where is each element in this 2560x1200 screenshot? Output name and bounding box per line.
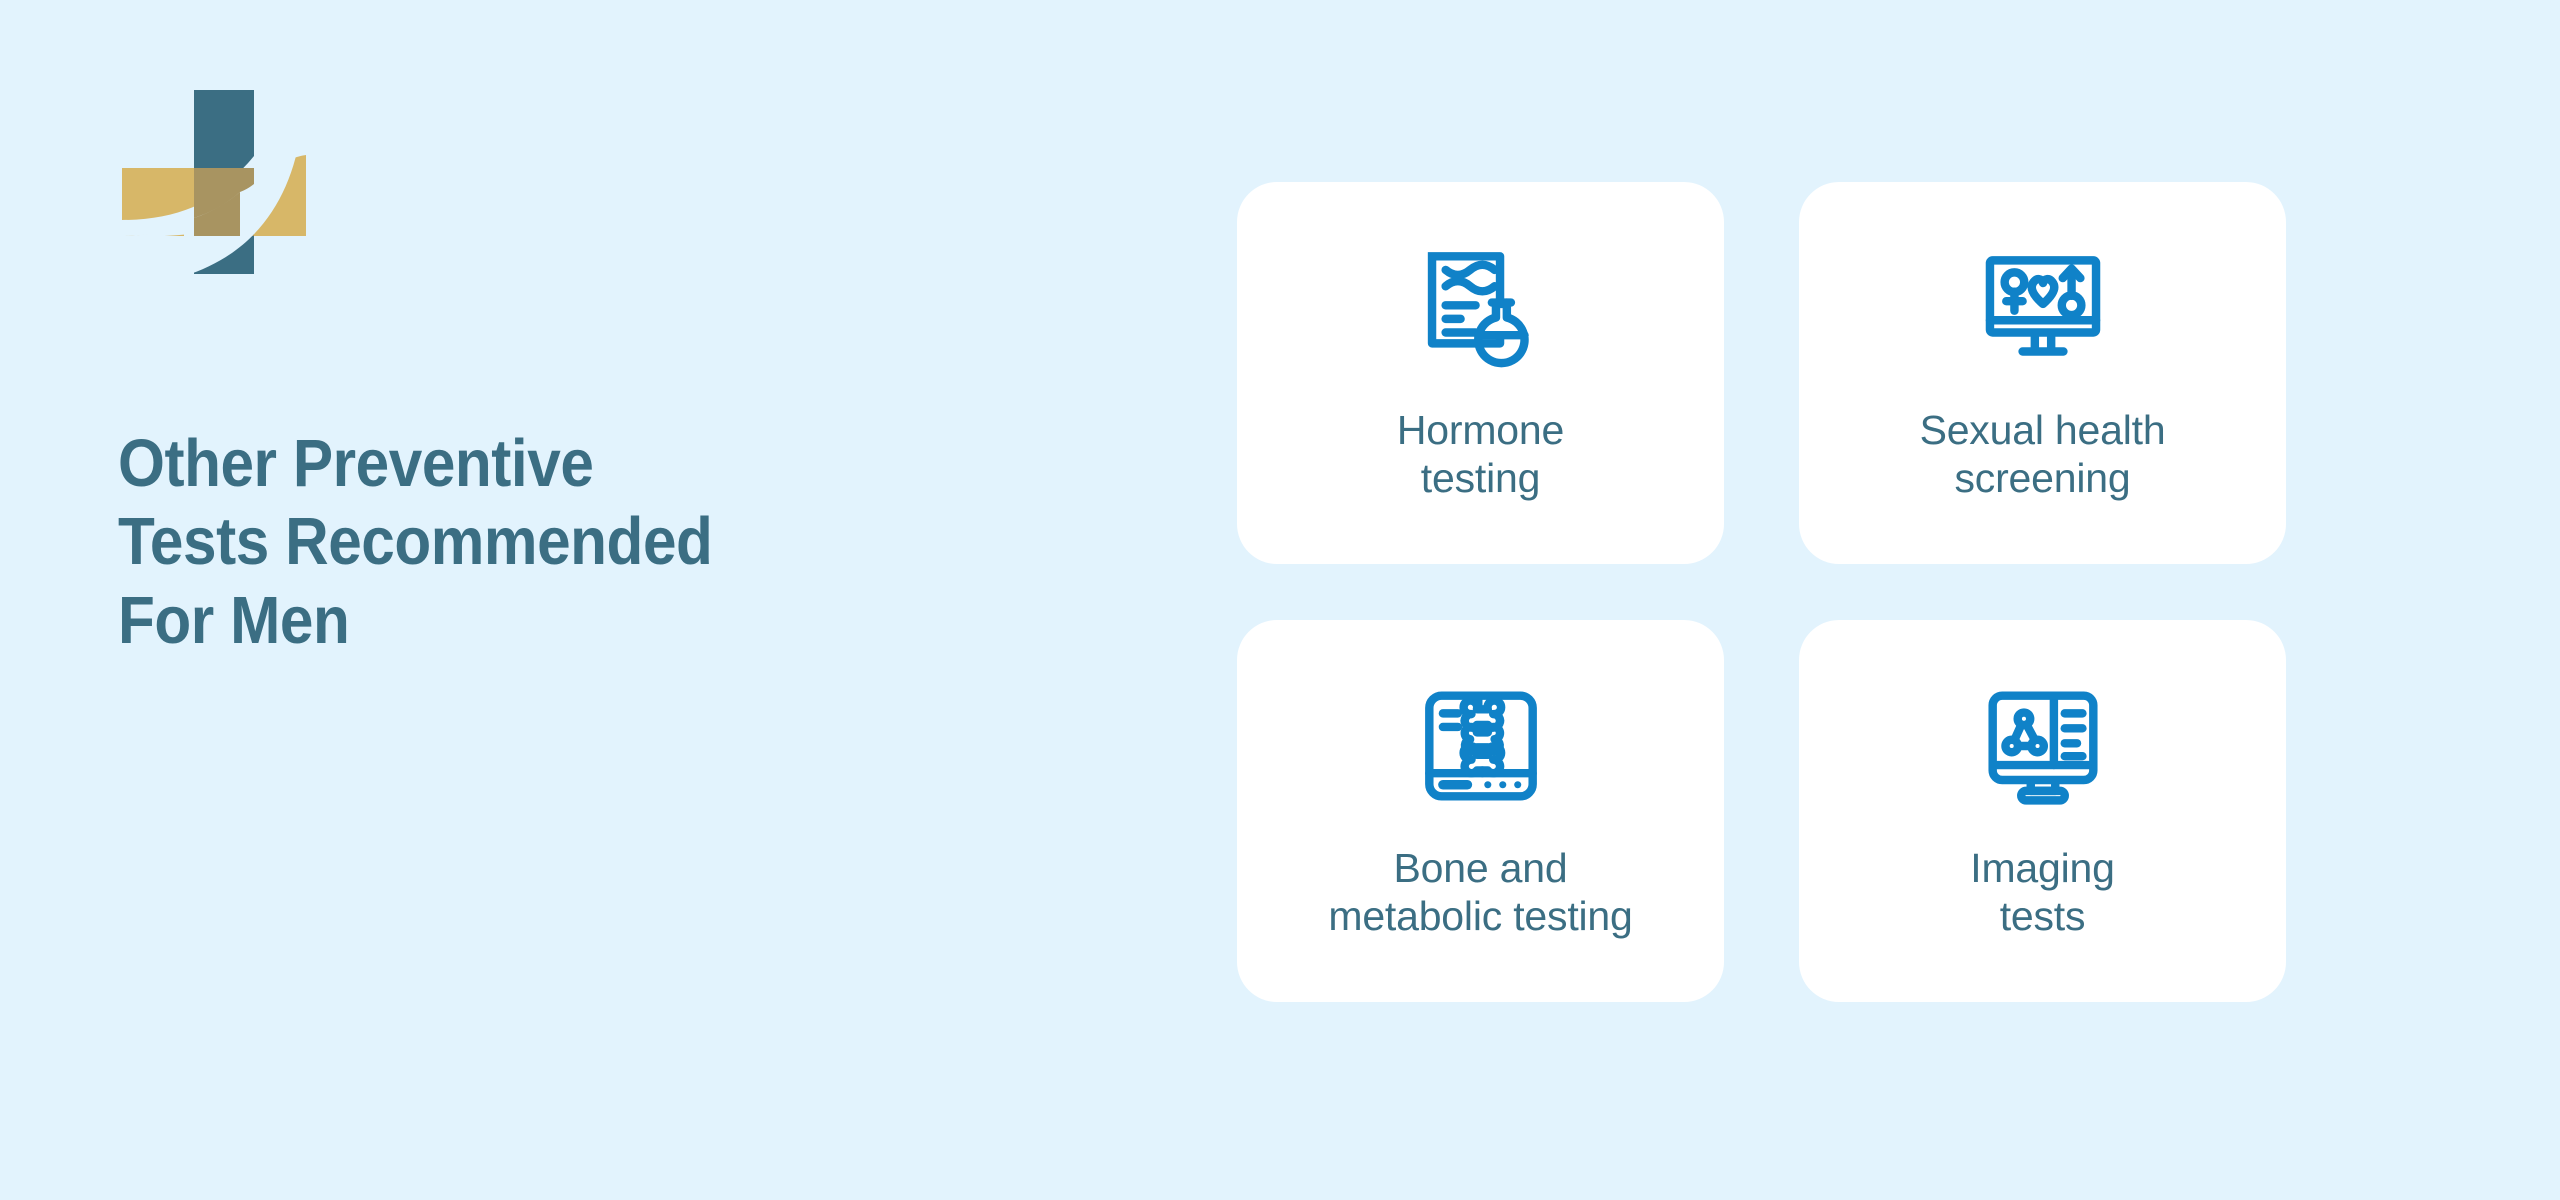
card-label: Imaging tests (1970, 844, 2114, 941)
page-title-line-1: Other Preventive (118, 425, 910, 503)
card-sexual-health-screening[interactable]: Sexual health screening (1799, 182, 2286, 564)
bone-scanner-icon (1413, 678, 1549, 814)
page-title-line-2: Tests Recommended (118, 503, 910, 581)
infographic-canvas: Other Preventive Tests Recommended For M… (0, 0, 2560, 1200)
monitor-gender-symbols-icon (1975, 240, 2111, 376)
card-imaging-tests[interactable]: Imaging tests (1799, 620, 2286, 1002)
left-content-panel: Other Preventive Tests Recommended For M… (118, 80, 1118, 780)
medical-cross-swoosh-logo (118, 80, 358, 300)
card-bone-metabolic-testing[interactable]: Bone and metabolic testing (1237, 620, 1724, 1002)
lab-report-flask-icon (1413, 240, 1549, 376)
page-title-line-3: For Men (118, 582, 910, 660)
card-hormone-testing[interactable]: Hormone testing (1237, 182, 1724, 564)
page-title: Other Preventive Tests Recommended For M… (118, 425, 910, 660)
card-label: Bone and metabolic testing (1328, 844, 1632, 941)
monitor-molecule-scan-icon (1975, 678, 2111, 814)
card-label: Hormone testing (1397, 406, 1564, 503)
card-label: Sexual health screening (1920, 406, 2166, 503)
preventive-test-card-grid: Hormone testing (1237, 182, 2322, 1002)
